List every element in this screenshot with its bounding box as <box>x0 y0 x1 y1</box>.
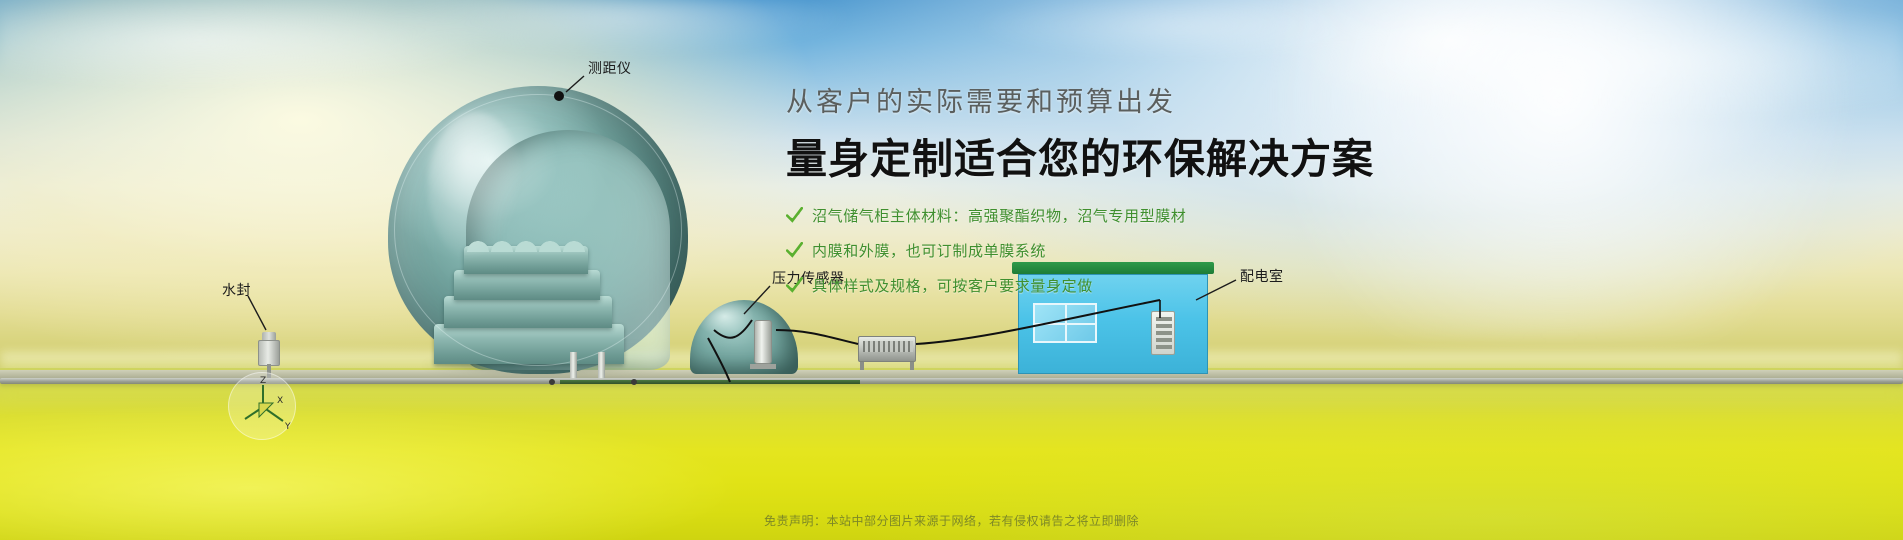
dome-step-3 <box>454 270 600 300</box>
control-panel-icon <box>1151 311 1175 355</box>
biogas-dome <box>388 86 688 374</box>
label-rangefinder: 测距仪 <box>588 58 632 78</box>
axis-gizmo: Z X Y <box>228 372 296 440</box>
list-item: 沼气储气柜主体材料：高强聚酯织物，沼气专用型膜材 <box>786 205 1826 226</box>
feature-list: 沼气储气柜主体材料：高强聚酯织物，沼气专用型膜材 内膜和外膜，也可订制成单膜系统 <box>786 205 1826 296</box>
check-icon <box>786 242 803 259</box>
compressor-legs <box>860 362 914 370</box>
banner-headline: 量身定制适合您的环保解决方案 <box>786 125 1826 185</box>
check-icon <box>786 277 803 294</box>
banner-stage: Z X Y 测距仪 水封 压力传感器 配电室 从客户的实际需要和预算出发 量身定… <box>0 0 1903 540</box>
green-pipeline <box>560 380 860 384</box>
label-water-seal: 水封 <box>222 280 251 300</box>
list-item-label: 沼气储气柜主体材料：高强聚酯织物，沼气专用型膜材 <box>812 205 1186 226</box>
axis-label-x: X <box>277 396 283 406</box>
pressure-sensor-unit <box>746 314 780 376</box>
water-seal-body <box>258 340 280 366</box>
dome-step-2 <box>444 296 612 328</box>
list-item-label: 内膜和外膜，也可订制成单膜系统 <box>812 240 1046 261</box>
axis-label-z: Z <box>260 376 266 386</box>
dome-step-1 <box>434 324 624 364</box>
compressor-unit <box>858 336 916 370</box>
dome-highlight <box>428 112 524 262</box>
disclaimer-text: 免责声明：本站中部分图片来源于网络，若有侵权请告之将立即删除 <box>0 512 1903 529</box>
check-icon <box>786 207 803 224</box>
list-item-label: 具体样式及规格，可按客户要求量身定做 <box>812 275 1093 296</box>
list-item: 内膜和外膜，也可订制成单膜系统 <box>786 240 1826 261</box>
pressure-sensor-base <box>750 364 776 369</box>
compressor-body <box>858 336 916 362</box>
axis-label-y: Y <box>284 422 291 432</box>
list-item: 具体样式及规格，可按客户要求量身定做 <box>786 275 1826 296</box>
banner-copy: 从客户的实际需要和预算出发 量身定制适合您的环保解决方案 沼气储气柜主体材料：高… <box>786 80 1826 310</box>
water-seal-unit <box>258 330 280 376</box>
banner-subtitle: 从客户的实际需要和预算出发 <box>786 80 1826 119</box>
compressor-vent <box>863 341 913 352</box>
pressure-sensor-body <box>754 320 772 364</box>
